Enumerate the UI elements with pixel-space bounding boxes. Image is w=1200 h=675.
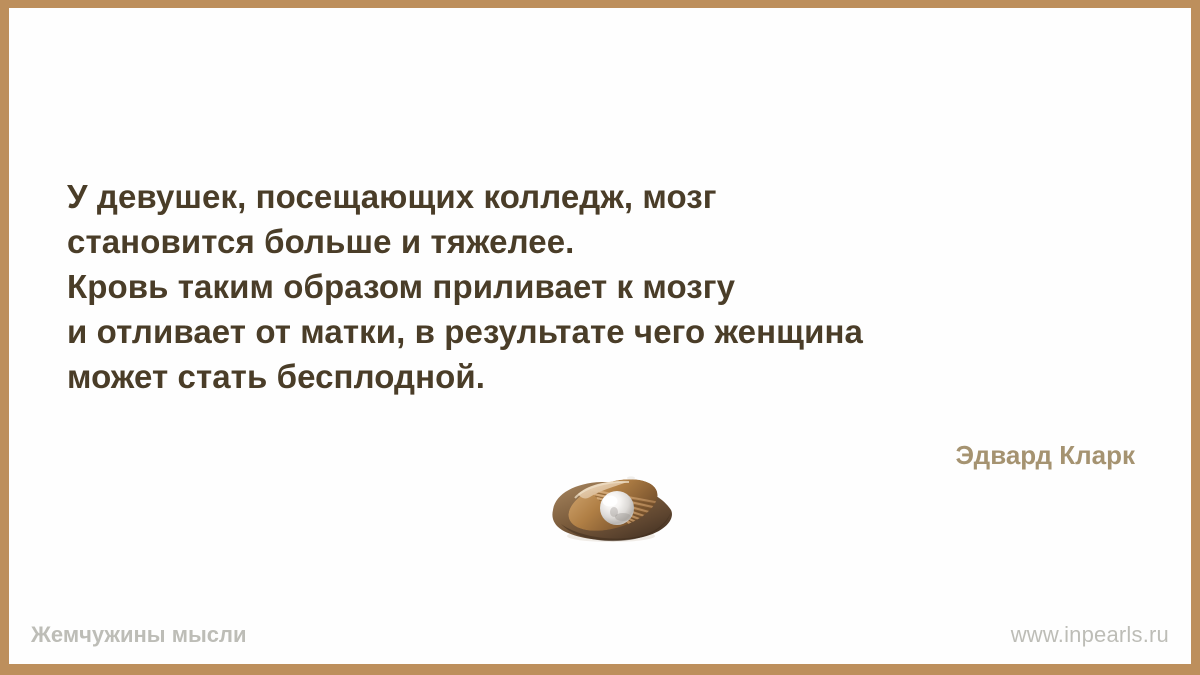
quote-line: становится больше и тяжелее. [67,219,1157,264]
quote-author: Эдвард Кларк [956,440,1135,470]
quote-line: Кровь таким образом приливает к мозгу [67,264,1157,309]
quote-card: У девушек, посещающих колледж, мозг стан… [0,0,1200,675]
quote-line: и отливает от матки, в результате чего ж… [67,309,1157,354]
site-name: Жемчужины мысли [31,622,247,648]
footer-bar: Жемчужины мысли www.inpearls.ru [9,620,1191,650]
quote-text-block: У девушек, посещающих колледж, мозг стан… [67,174,1157,399]
shell-with-pearl-icon [545,474,679,544]
site-url[interactable]: www.inpearls.ru [1011,622,1169,648]
quote-line: У девушек, посещающих колледж, мозг [67,174,1157,219]
quote-line: может стать бесплодной. [67,354,1157,399]
